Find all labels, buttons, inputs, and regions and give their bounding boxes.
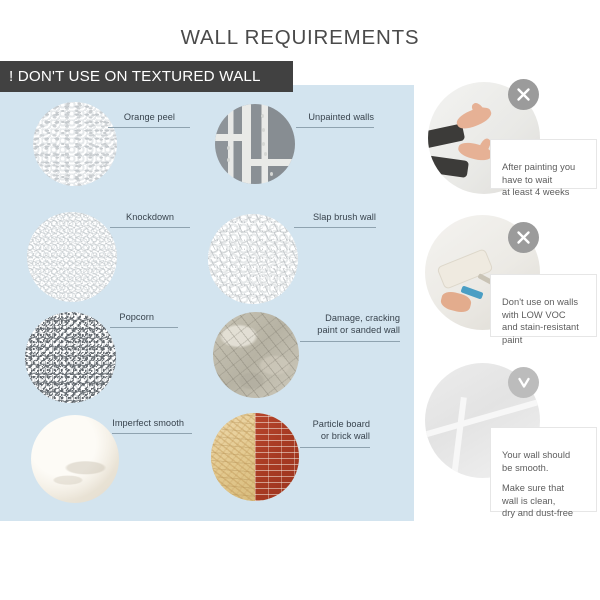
check-icon	[508, 367, 539, 398]
advice-line-1: Don't use on walls with LOW VOC and stai…	[502, 297, 579, 344]
wall-requirements-infographic: WALL REQUIREMENTS ! DON'T USE ON TEXTURE…	[0, 0, 600, 600]
advice-text-box: Your wall should be smooth. Make sure th…	[490, 427, 597, 512]
knockdown-swatch	[27, 212, 117, 302]
texture-label-rule	[110, 227, 190, 228]
warning-banner: ! DON'T USE ON TEXTURED WALL	[0, 61, 293, 92]
texture-label: Knockdown	[88, 212, 174, 224]
advice-line-1: After painting you have to wait at least…	[502, 162, 575, 197]
texture-label: Damage, cracking paint or sanded wall	[266, 313, 400, 336]
slap-brush-wall-swatch	[208, 214, 298, 304]
warning-banner-label: ! DON'T USE ON TEXTURED WALL	[9, 68, 261, 85]
texture-label-rule	[108, 127, 190, 128]
texture-label: Particle board or brick wall	[266, 419, 370, 442]
texture-label: Popcorn	[92, 312, 154, 324]
popcorn-swatch	[25, 312, 116, 403]
texture-label: Slap brush wall	[268, 212, 376, 224]
texture-label-rule	[296, 127, 374, 128]
texture-label: Unpainted walls	[262, 112, 374, 124]
cross-icon	[508, 79, 539, 110]
advice-line-2: Make sure that wall is clean, dry and du…	[502, 482, 586, 519]
advice-line-1: Your wall should be smooth.	[502, 450, 570, 472]
cross-icon	[508, 222, 539, 253]
advice-text-box: After painting you have to wait at least…	[490, 139, 597, 189]
texture-label-rule	[112, 433, 192, 434]
page-title: WALL REQUIREMENTS	[0, 26, 600, 50]
texture-label-rule	[300, 447, 370, 448]
texture-label-rule	[300, 341, 400, 342]
texture-label-rule	[110, 327, 178, 328]
advice-text-box: Don't use on walls with LOW VOC and stai…	[490, 274, 597, 337]
texture-label: Orange peel	[85, 112, 175, 124]
texture-label: Imperfect smooth	[90, 418, 184, 430]
texture-label-rule	[294, 227, 376, 228]
